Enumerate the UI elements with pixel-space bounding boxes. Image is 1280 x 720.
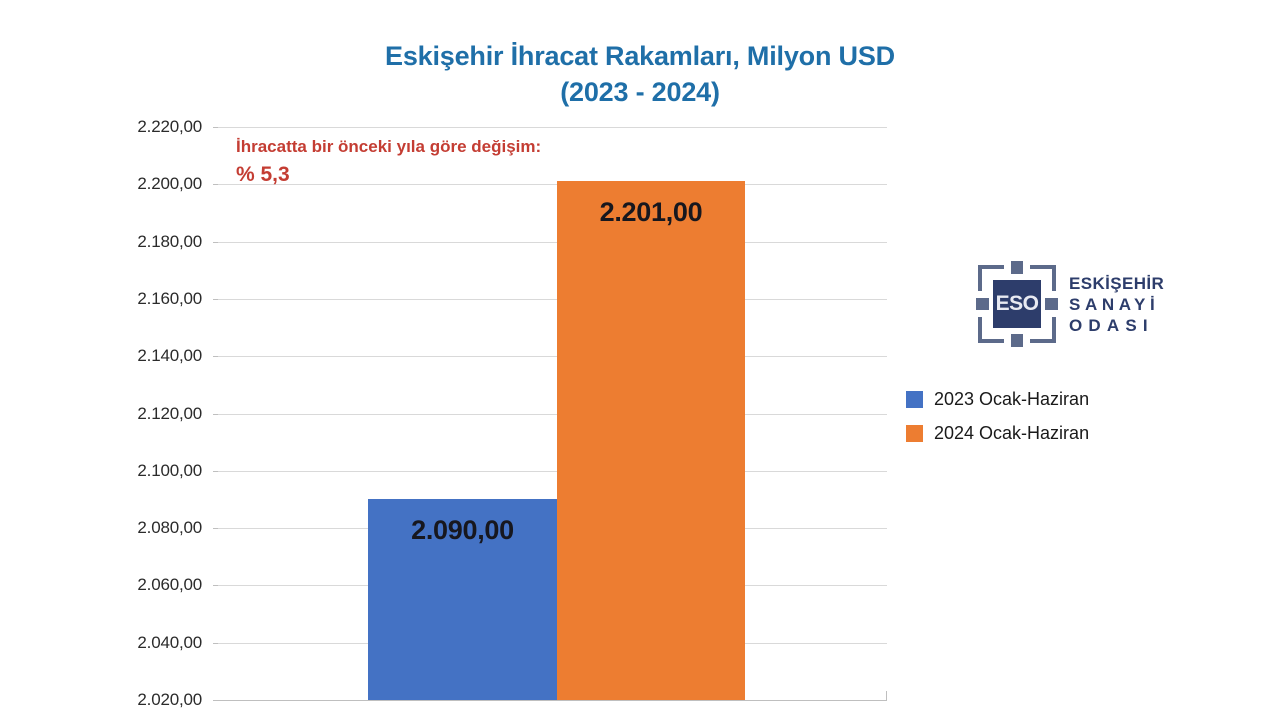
- y-axis-label: 2.100,00: [0, 461, 210, 481]
- eso-wordmark-line1: ESKİŞEHİR: [1069, 273, 1164, 294]
- y-axis-label: 2.140,00: [0, 346, 210, 366]
- y-axis-label: 2.160,00: [0, 289, 210, 309]
- y-axis-label: 2.220,00: [0, 117, 210, 137]
- y-axis-label: 2.040,00: [0, 633, 210, 653]
- y-axis-tick: [213, 299, 218, 300]
- gridline: [218, 242, 887, 243]
- chart-title-line1: Eskişehir İhracat Rakamları, Milyon USD: [385, 41, 895, 71]
- y-axis-tick: [213, 643, 218, 644]
- y-axis-tick: [213, 356, 218, 357]
- eso-wordmark-line3: ODASI: [1069, 315, 1164, 336]
- bar-label-2023: 2.090,00: [368, 515, 557, 546]
- eso-emblem-icon: ESO: [975, 260, 1059, 348]
- bar-2024-ocak-haziran[interactable]: 2.201,00: [557, 181, 745, 700]
- y-axis-tick: [213, 242, 218, 243]
- y-axis-tick: [213, 528, 218, 529]
- axis-end-tick: [886, 691, 887, 700]
- y-axis-label: 2.120,00: [0, 404, 210, 424]
- y-axis-tick: [213, 127, 218, 128]
- bar-label-2024: 2.201,00: [557, 197, 745, 228]
- y-axis-tick: [213, 585, 218, 586]
- eso-emblem-text: ESO: [996, 292, 1039, 316]
- y-axis-label: 2.080,00: [0, 518, 210, 538]
- gridline: [218, 471, 887, 472]
- gridline: [218, 127, 887, 128]
- gridline: [218, 299, 887, 300]
- legend-swatch-2024: [906, 425, 923, 442]
- legend: 2023 Ocak-Haziran 2024 Ocak-Haziran: [906, 382, 1089, 450]
- y-axis-tick: [213, 471, 218, 472]
- y-axis-label: 2.060,00: [0, 575, 210, 595]
- legend-label-2024: 2024 Ocak-Haziran: [934, 423, 1089, 444]
- y-axis: 2.220,002.200,002.180,002.160,002.140,00…: [0, 0, 210, 720]
- y-axis-tick: [213, 700, 218, 701]
- legend-swatch-2023: [906, 391, 923, 408]
- y-axis-label: 2.200,00: [0, 174, 210, 194]
- change-annotation-percent: % 5,3: [236, 160, 541, 190]
- y-axis-label: 2.180,00: [0, 232, 210, 252]
- gridline: [218, 700, 887, 701]
- legend-item-2024[interactable]: 2024 Ocak-Haziran: [906, 416, 1089, 450]
- bar-2023-ocak-haziran[interactable]: 2.090,00: [368, 499, 557, 700]
- y-axis-tick: [213, 414, 218, 415]
- y-axis-tick: [213, 184, 218, 185]
- change-annotation: İhracatta bir önceki yıla göre değişim: …: [236, 133, 541, 190]
- eso-logo: ESO ESKİŞEHİR SANAYİ ODASI: [975, 258, 1190, 350]
- gridline: [218, 356, 887, 357]
- legend-item-2023[interactable]: 2023 Ocak-Haziran: [906, 382, 1089, 416]
- change-annotation-text: İhracatta bir önceki yıla göre değişim:: [236, 137, 541, 156]
- plot-area: 2.090,00 2.201,00: [218, 127, 887, 700]
- y-axis-label: 2.020,00: [0, 690, 210, 710]
- eso-wordmark-line2: SANAYİ: [1069, 294, 1164, 315]
- legend-label-2023: 2023 Ocak-Haziran: [934, 389, 1089, 410]
- gridline: [218, 414, 887, 415]
- eso-wordmark: ESKİŞEHİR SANAYİ ODASI: [1069, 273, 1164, 336]
